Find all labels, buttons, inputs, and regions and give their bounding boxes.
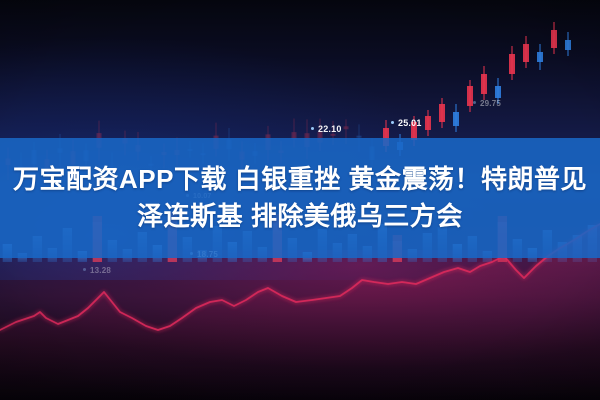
candle-body bbox=[523, 44, 529, 62]
label-22-10: 22.10 bbox=[311, 124, 342, 134]
candle-body bbox=[425, 116, 431, 130]
label-marker-dot bbox=[473, 101, 476, 104]
label-25-01: 25.01 bbox=[391, 118, 422, 128]
price-label-text: 25.01 bbox=[398, 118, 422, 128]
price-label-text: 29.75 bbox=[480, 99, 501, 108]
candle-body bbox=[481, 74, 487, 94]
candle-body bbox=[344, 126, 349, 129]
headline-line-2: 泽连斯基 排除美俄乌三方会 bbox=[137, 198, 463, 235]
candle-body bbox=[509, 54, 515, 74]
candlestick-series bbox=[383, 22, 571, 156]
headline-line-1: 万宝配资APP下载 白银重挫 黄金震荡！特朗普见 bbox=[13, 161, 587, 198]
headline-banner: 万宝配资APP下载 白银重挫 黄金震荡！特朗普见 泽连斯基 排除美俄乌三方会 bbox=[0, 138, 600, 258]
candle-body bbox=[565, 40, 571, 50]
price-label-text: 13.28 bbox=[90, 266, 111, 275]
label-29-75: 29.75 bbox=[473, 99, 501, 108]
price-label-text: 22.10 bbox=[318, 124, 342, 134]
candle-body bbox=[495, 86, 501, 98]
label-marker-dot bbox=[391, 121, 394, 124]
candle-body bbox=[551, 30, 557, 48]
label-marker-dot bbox=[311, 127, 314, 130]
candle-body bbox=[537, 52, 543, 62]
candle-body bbox=[453, 112, 459, 126]
candle-body bbox=[439, 104, 445, 122]
banner-image: 22.1025.0129.7510.0718.7513.28 万宝配资APP下载… bbox=[0, 0, 600, 400]
label-marker-dot bbox=[83, 268, 86, 271]
label-13-28: 13.28 bbox=[83, 266, 111, 275]
candle-body bbox=[331, 134, 336, 136]
